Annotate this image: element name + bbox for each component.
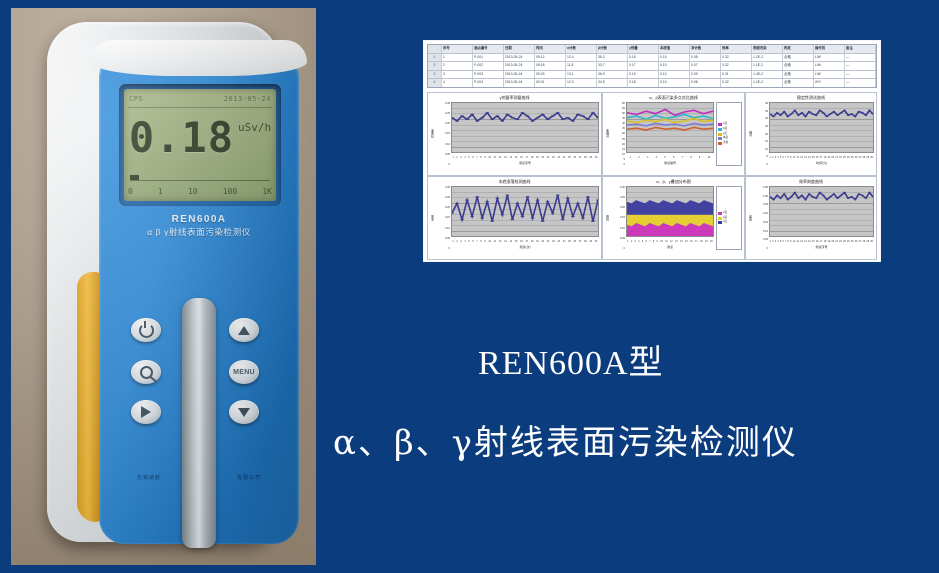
data-point bbox=[836, 198, 839, 199]
data-point bbox=[776, 195, 779, 196]
x-tick: 1 bbox=[452, 156, 453, 159]
chart-body: 剂量率0.300.250.200.150.100.050123456789101… bbox=[430, 102, 599, 166]
lcd-scale-tick: 1 bbox=[158, 187, 163, 196]
y-tick: 50 bbox=[610, 112, 625, 115]
data-point bbox=[683, 114, 685, 115]
data-point bbox=[811, 196, 814, 197]
data-point bbox=[635, 114, 637, 115]
data-table[interactable]: 序号测点编号日期时间α计数β计数γ剂量本底值净计数效率表面污染判定操作员备注11… bbox=[427, 44, 877, 88]
data-point bbox=[556, 112, 560, 113]
table-cell: 2013-05-24 bbox=[504, 71, 535, 79]
x-tick: 15 bbox=[812, 240, 815, 243]
y-tick: 0.15 bbox=[435, 216, 450, 219]
table-cell: 2013-05-24 bbox=[504, 54, 535, 62]
data-point bbox=[783, 111, 786, 112]
chart-plot-wrap: 1234567891011121314151617181920212223242… bbox=[451, 102, 599, 166]
lcd-unit: uSv/h bbox=[238, 121, 271, 134]
chart-xaxis: 1234567891011121314151617181920212223242… bbox=[769, 153, 874, 161]
data-point bbox=[516, 203, 520, 204]
chart-ylabel: 剂量率 bbox=[430, 102, 435, 166]
x-tick: 3 bbox=[460, 156, 461, 159]
lcd-status-left: CPS bbox=[129, 95, 143, 103]
data-point bbox=[674, 124, 676, 125]
data-point bbox=[674, 115, 676, 116]
legend-item: γ道 bbox=[718, 220, 740, 225]
chart-plot-area bbox=[769, 186, 874, 237]
x-tick: 14 bbox=[509, 156, 512, 159]
data-point bbox=[829, 196, 832, 197]
table-cell: 1.2E-2 bbox=[752, 79, 783, 87]
y-tick: 60 bbox=[610, 102, 625, 105]
data-point bbox=[786, 116, 789, 117]
table-cell: 合格 bbox=[783, 79, 814, 87]
data-point bbox=[822, 195, 825, 196]
data-point bbox=[854, 116, 857, 117]
table-cell: 3 bbox=[442, 71, 473, 79]
x-tick: 13 bbox=[675, 240, 678, 243]
x-tick: 4 bbox=[464, 240, 465, 243]
x-tick: 12 bbox=[499, 240, 502, 243]
x-tick: 28 bbox=[584, 240, 587, 243]
y-tick: 0.15 bbox=[610, 216, 625, 219]
x-tick: 29 bbox=[866, 156, 869, 159]
x-tick: 10 bbox=[793, 156, 796, 159]
data-point bbox=[868, 110, 871, 111]
line-本底 bbox=[452, 195, 598, 221]
chart-title: 效率刻度曲线 bbox=[748, 179, 874, 186]
data-point bbox=[786, 199, 789, 200]
data-point bbox=[674, 122, 676, 123]
y-tick: 0.30 bbox=[753, 195, 768, 198]
x-tick: 16 bbox=[520, 156, 523, 159]
x-tick: 9 bbox=[790, 156, 791, 159]
data-point bbox=[847, 198, 850, 199]
data-point bbox=[843, 110, 846, 111]
table-cell: 0.10 bbox=[659, 54, 690, 62]
data-point bbox=[664, 124, 666, 125]
table-cell: 09:18 bbox=[535, 62, 566, 70]
y-tick: 35 bbox=[753, 110, 768, 113]
data-point bbox=[596, 199, 598, 200]
data-point bbox=[635, 128, 637, 129]
device-handle bbox=[182, 298, 216, 548]
start-button[interactable] bbox=[131, 400, 161, 424]
charts-grid: γ剂量率测量曲线剂量率0.300.250.200.150.100.0501234… bbox=[427, 92, 877, 260]
table-cell: 0.09 bbox=[690, 71, 721, 79]
row-index-cell: 4 bbox=[428, 79, 442, 87]
x-tick: 18 bbox=[824, 240, 827, 243]
y-tick: 0.05 bbox=[610, 237, 625, 240]
data-point bbox=[526, 115, 530, 116]
x-tick: 26 bbox=[855, 240, 858, 243]
x-tick: 19 bbox=[828, 240, 831, 243]
table-header-cell: 时间 bbox=[535, 45, 566, 53]
x-tick: 30 bbox=[595, 156, 598, 159]
chart-plot-wrap: 1234567891011121314151617181920测点 bbox=[626, 186, 714, 250]
table-cell: 0.07 bbox=[690, 62, 721, 70]
line-计数率 bbox=[770, 110, 873, 116]
chart-plot-wrap: 12345678910测点编号 bbox=[626, 102, 714, 166]
x-tick: 16 bbox=[520, 240, 523, 243]
legend-swatch bbox=[718, 137, 722, 140]
x-tick: 2 bbox=[638, 156, 639, 159]
row-index-cell: 3 bbox=[428, 71, 442, 79]
data-point bbox=[815, 115, 818, 116]
data-point bbox=[536, 199, 540, 200]
chart-title: α、β、γ叠加分布图 bbox=[605, 179, 742, 186]
y-tick: 25 bbox=[610, 138, 625, 141]
lcd-bezel: CPS 2013-05-24 0.18 uSv/h 0 1 10 100 1 bbox=[119, 84, 281, 206]
chart-plot-wrap: 1234567891011121314151617181920212223242… bbox=[769, 186, 874, 250]
table-cell: 0.17 bbox=[628, 62, 659, 70]
table-cell: P-002 bbox=[473, 62, 504, 70]
y-tick: 35 bbox=[610, 127, 625, 130]
data-point bbox=[868, 192, 871, 193]
table-header-cell: 判定 bbox=[783, 45, 814, 53]
y-tick: 30 bbox=[753, 117, 768, 120]
y-tick: 30 bbox=[610, 132, 625, 135]
x-tick: 15 bbox=[812, 156, 815, 159]
chart-series-layer bbox=[452, 187, 598, 236]
x-tick: 24 bbox=[847, 240, 850, 243]
data-point bbox=[581, 115, 585, 116]
data-point bbox=[825, 199, 828, 200]
device-subtitle-label: α β γ射线表面污染检测仪 bbox=[99, 226, 299, 238]
data-point bbox=[470, 216, 474, 217]
data-point bbox=[556, 195, 560, 196]
chart-chart-stacked-area: α、β、γ叠加分布图份额0.300.250.200.150.100.050123… bbox=[602, 176, 745, 260]
table-header-cell: 测点编号 bbox=[473, 45, 504, 53]
chart-body: 效率0.350.300.250.200.150.100.050123456789… bbox=[748, 186, 874, 250]
slide-root: CPS 2013-05-24 0.18 uSv/h 0 1 10 100 1 bbox=[0, 0, 939, 573]
x-tick: 6 bbox=[646, 240, 647, 243]
chart-series-layer bbox=[627, 103, 713, 152]
table-cell: LiW bbox=[814, 62, 845, 70]
x-tick: 20 bbox=[831, 156, 834, 159]
y-tick: 25 bbox=[753, 125, 768, 128]
x-tick: 13 bbox=[504, 240, 507, 243]
lcd-screen: CPS 2013-05-24 0.18 uSv/h 0 1 10 100 1 bbox=[124, 89, 276, 201]
data-point bbox=[683, 111, 685, 112]
x-tick: 10 bbox=[793, 240, 796, 243]
device-grip-left bbox=[77, 272, 101, 522]
x-tick: 12 bbox=[800, 156, 803, 159]
data-point bbox=[566, 117, 570, 118]
x-tick: 1 bbox=[770, 156, 771, 159]
x-tick: 26 bbox=[573, 156, 576, 159]
chart-xaxis: 1234567891011121314151617181920212223242… bbox=[451, 237, 599, 245]
table-cell: 12.4 bbox=[566, 54, 597, 62]
table-cell: — bbox=[845, 71, 876, 79]
data-point bbox=[815, 198, 818, 199]
x-tick: 11 bbox=[494, 156, 496, 159]
table-cell: 0.10 bbox=[659, 79, 690, 87]
table-cell: 1.2E-2 bbox=[752, 54, 783, 62]
y-tick: 0.10 bbox=[753, 230, 768, 233]
data-point bbox=[586, 196, 590, 197]
lcd-status-right: 2013-05-24 bbox=[224, 95, 271, 103]
chart-plot-wrap: 1234567891011121314151617181920212223242… bbox=[769, 102, 874, 166]
y-tick: 0.05 bbox=[753, 238, 768, 241]
data-point bbox=[516, 119, 520, 120]
y-tick: 0.30 bbox=[435, 102, 450, 105]
y-tick: 0.20 bbox=[753, 212, 768, 215]
data-point bbox=[702, 128, 704, 129]
data-point bbox=[645, 129, 647, 130]
data-point bbox=[541, 114, 545, 115]
x-tick: 7 bbox=[785, 240, 786, 243]
row-index-cell: 1 bbox=[428, 54, 442, 62]
data-point bbox=[480, 117, 484, 118]
chart-xlabel: 测点序号 bbox=[769, 245, 874, 250]
chart-xaxis: 1234567891011121314151617181920212223242… bbox=[769, 237, 874, 245]
data-point bbox=[546, 201, 550, 202]
table-cell: P-001 bbox=[473, 54, 504, 62]
data-point bbox=[645, 125, 647, 126]
data-point bbox=[693, 110, 695, 111]
chart-plot-area bbox=[626, 186, 714, 237]
chart-xlabel: 测点序号 bbox=[451, 161, 599, 166]
table-header-cell: β计数 bbox=[597, 45, 628, 53]
down-button[interactable] bbox=[229, 400, 259, 424]
data-point bbox=[576, 114, 580, 115]
chart-body: 本底0.300.250.200.150.100.0501234567891011… bbox=[430, 186, 599, 250]
chart-body: 份额0.300.250.200.150.100.0501234567891011… bbox=[605, 186, 742, 250]
data-point bbox=[541, 221, 545, 222]
lcd-scale-tick: 10 bbox=[188, 187, 198, 196]
table-header-cell: 效率 bbox=[721, 45, 752, 53]
chart-xaxis: 1234567891011121314151617181920 bbox=[626, 237, 714, 245]
x-tick: 1 bbox=[627, 240, 628, 243]
table-cell: 合格 bbox=[783, 54, 814, 62]
x-tick: 27 bbox=[859, 156, 862, 159]
search-icon bbox=[140, 366, 153, 379]
x-tick: 12 bbox=[670, 240, 673, 243]
menu-button[interactable]: MENU bbox=[229, 360, 259, 384]
table-header-cell: 净计数 bbox=[690, 45, 721, 53]
legend-swatch bbox=[718, 217, 722, 220]
x-tick: 25 bbox=[851, 240, 854, 243]
x-tick: 8 bbox=[788, 240, 789, 243]
x-tick: 4 bbox=[638, 240, 639, 243]
y-tick: 0.15 bbox=[753, 221, 768, 224]
x-tick: 6 bbox=[673, 156, 674, 159]
x-tick: 1 bbox=[452, 240, 453, 243]
data-point bbox=[521, 216, 525, 217]
x-tick: 6 bbox=[782, 156, 783, 159]
data-point bbox=[865, 198, 868, 199]
x-tick: 11 bbox=[665, 240, 667, 243]
data-point bbox=[797, 115, 800, 116]
x-tick: 18 bbox=[531, 240, 534, 243]
device-grip-right bbox=[225, 272, 249, 522]
table-cell: 1 bbox=[442, 54, 473, 62]
row-index-cell bbox=[428, 45, 442, 53]
y-tick: 0 bbox=[435, 247, 450, 250]
data-point bbox=[551, 115, 555, 116]
chart-title: α、β表面污染多点对比曲线 bbox=[605, 95, 742, 102]
y-tick: 0.05 bbox=[435, 237, 450, 240]
table-cell: 1.1E-2 bbox=[752, 62, 783, 70]
x-tick: 30 bbox=[595, 240, 598, 243]
y-tick: 0.10 bbox=[435, 143, 450, 146]
table-cell: 合格 bbox=[783, 71, 814, 79]
x-tick: 14 bbox=[808, 240, 811, 243]
table-cell: 09:31 bbox=[535, 79, 566, 87]
table-cell: 2013-05-24 bbox=[504, 79, 535, 87]
data-point bbox=[591, 112, 595, 113]
data-point bbox=[561, 219, 565, 220]
data-point bbox=[779, 115, 782, 116]
data-point bbox=[847, 115, 850, 116]
data-point bbox=[808, 193, 811, 194]
y-tick: 0.20 bbox=[435, 122, 450, 125]
y-tick: 0 bbox=[610, 163, 625, 166]
lcd-bargraph bbox=[130, 175, 270, 181]
data-point bbox=[772, 199, 775, 200]
x-tick: 3 bbox=[775, 240, 776, 243]
table-cell: 0.10 bbox=[659, 62, 690, 70]
x-tick: 23 bbox=[557, 156, 560, 159]
x-tick: 10 bbox=[660, 240, 663, 243]
data-point bbox=[475, 120, 479, 121]
chart-chart-background-var: 本底涨落检测曲线本底0.300.250.200.150.100.05012345… bbox=[427, 176, 602, 260]
data-point bbox=[561, 119, 565, 120]
x-tick: 19 bbox=[705, 240, 708, 243]
x-tick: 9 bbox=[657, 240, 658, 243]
table-cell: 0.32 bbox=[721, 54, 752, 62]
legend-swatch bbox=[718, 212, 722, 215]
legend-swatch bbox=[718, 221, 722, 224]
data-point bbox=[655, 123, 657, 124]
data-point bbox=[586, 119, 590, 120]
data-point bbox=[591, 221, 595, 222]
table-cell: P-004 bbox=[473, 79, 504, 87]
line-β道 bbox=[627, 114, 713, 119]
data-point bbox=[683, 129, 685, 130]
x-tick: 22 bbox=[839, 156, 842, 159]
table-cell: 4 bbox=[442, 79, 473, 87]
data-point bbox=[571, 216, 575, 217]
x-tick: 7 bbox=[682, 156, 683, 159]
x-tick: 5 bbox=[664, 156, 665, 159]
x-tick: 10 bbox=[488, 156, 491, 159]
x-tick: 3 bbox=[635, 240, 636, 243]
lcd-divider bbox=[128, 107, 272, 108]
lcd-value: 0.18 bbox=[129, 117, 234, 159]
x-tick: 29 bbox=[589, 240, 592, 243]
table-cell: LiW bbox=[814, 54, 845, 62]
data-point bbox=[825, 116, 828, 117]
table-row: 11P-0012013-05-2409:1212.435.20.180.100.… bbox=[428, 54, 876, 63]
line-α道 bbox=[627, 110, 713, 116]
x-tick: 28 bbox=[863, 240, 866, 243]
x-tick: 7 bbox=[476, 240, 477, 243]
line-效率 bbox=[770, 193, 873, 200]
x-tick: 22 bbox=[552, 240, 555, 243]
x-tick: 28 bbox=[863, 156, 866, 159]
table-cell: 11.8 bbox=[566, 62, 597, 70]
chart-yaxis: 0.300.250.200.150.100.050 bbox=[610, 186, 626, 250]
area-γ道 bbox=[627, 200, 713, 215]
x-tick: 18 bbox=[531, 156, 534, 159]
data-point bbox=[857, 193, 860, 194]
x-tick: 24 bbox=[563, 156, 566, 159]
data-point bbox=[833, 193, 836, 194]
data-point bbox=[500, 120, 504, 121]
data-point bbox=[693, 123, 695, 124]
data-point bbox=[797, 198, 800, 199]
data-point bbox=[818, 110, 821, 111]
data-point bbox=[801, 112, 804, 113]
x-tick: 6 bbox=[472, 156, 473, 159]
y-tick: 40 bbox=[753, 102, 768, 105]
y-tick: 5 bbox=[753, 155, 768, 158]
x-tick: 1 bbox=[630, 156, 631, 159]
power-button[interactable] bbox=[131, 318, 161, 342]
data-point bbox=[485, 112, 489, 113]
data-point bbox=[804, 116, 807, 117]
x-tick: 28 bbox=[584, 156, 587, 159]
x-tick: 4 bbox=[777, 240, 778, 243]
data-point bbox=[808, 111, 811, 112]
x-tick: 12 bbox=[800, 240, 803, 243]
search-button[interactable] bbox=[131, 360, 161, 384]
data-point bbox=[452, 212, 454, 213]
x-tick: 10 bbox=[708, 156, 711, 159]
table-cell: 35.2 bbox=[597, 54, 628, 62]
table-cell: 0.31 bbox=[721, 71, 752, 79]
device-foot-right: 有限公司 bbox=[237, 474, 261, 481]
data-point bbox=[843, 192, 846, 193]
up-button[interactable] bbox=[229, 318, 259, 342]
x-tick: 25 bbox=[568, 240, 571, 243]
x-tick: 23 bbox=[557, 240, 560, 243]
data-point bbox=[840, 195, 843, 196]
chart-ylabel: 份额 bbox=[605, 186, 610, 250]
x-tick: 29 bbox=[866, 240, 869, 243]
data-point bbox=[655, 121, 657, 122]
x-tick: 20 bbox=[710, 240, 713, 243]
table-cell: 12.0 bbox=[566, 79, 597, 87]
data-point bbox=[566, 198, 570, 199]
data-point bbox=[822, 112, 825, 113]
data-point bbox=[664, 109, 666, 110]
data-point bbox=[794, 110, 797, 111]
data-point bbox=[861, 112, 864, 113]
x-tick: 5 bbox=[642, 240, 643, 243]
x-tick: 29 bbox=[589, 156, 592, 159]
x-tick: 4 bbox=[464, 156, 465, 159]
table-header-cell: α计数 bbox=[566, 45, 597, 53]
data-point bbox=[811, 113, 814, 114]
x-tick: 5 bbox=[780, 240, 781, 243]
y-tick: 20 bbox=[610, 143, 625, 146]
data-point bbox=[833, 111, 836, 112]
data-point bbox=[480, 217, 484, 218]
x-tick: 6 bbox=[472, 240, 473, 243]
data-point bbox=[693, 118, 695, 119]
legend-label: 净值 bbox=[723, 141, 728, 146]
legend-swatch bbox=[718, 133, 722, 136]
x-tick: 9 bbox=[790, 240, 791, 243]
data-point bbox=[485, 201, 489, 202]
data-point bbox=[551, 212, 555, 213]
chart-series-layer bbox=[770, 103, 873, 152]
data-point bbox=[505, 114, 509, 115]
x-tick: 25 bbox=[568, 156, 571, 159]
table-cell: ZhY bbox=[814, 79, 845, 87]
